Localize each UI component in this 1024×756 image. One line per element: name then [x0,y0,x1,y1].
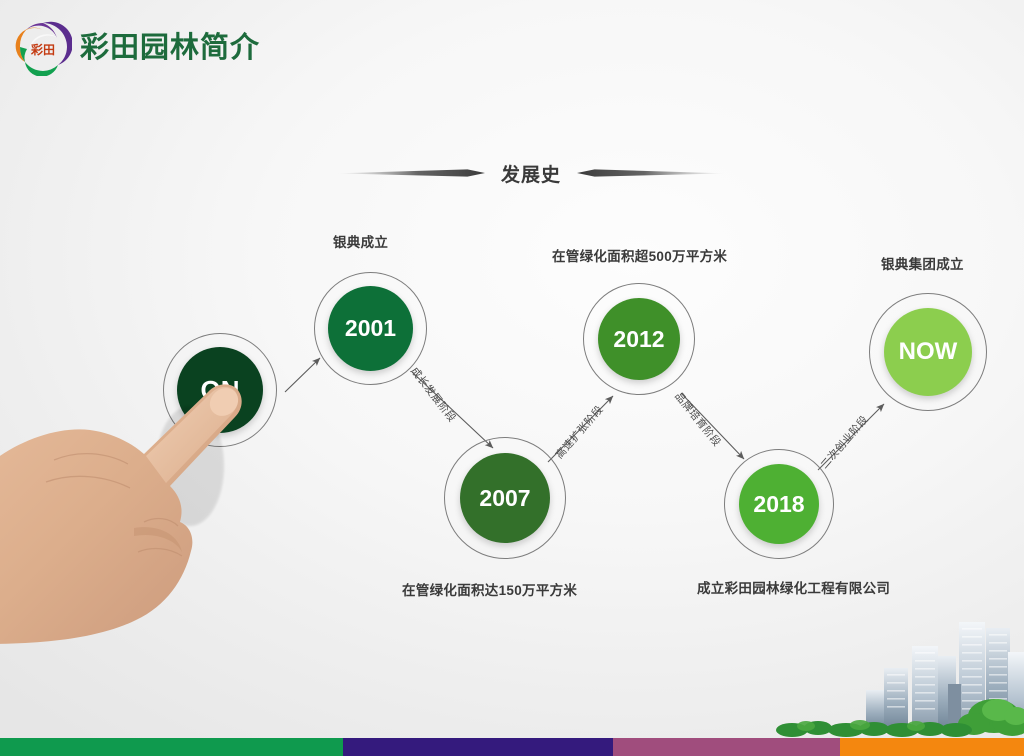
timeline-node-2012[interactable]: 2012 [583,283,695,395]
bar-segment-mauve [613,738,840,756]
bottom-color-bar [0,738,1024,756]
pointing-hand-icon [0,356,262,656]
node-disc-2018[interactable]: 2018 [739,464,819,544]
title-rule-left [336,166,485,180]
section-title-text: 发展史 [485,160,577,187]
cityscape-illustration-icon [762,608,1024,738]
node-caption-2001: 银典成立 [333,231,388,251]
bar-segment-green [0,738,343,756]
slide-header: 彩田 彩田园林简介 [0,0,1024,92]
section-title-group: 发展史 [336,155,726,191]
node-disc-now[interactable]: NOW [884,308,972,396]
logo-glyph-text: 彩田 [30,42,55,57]
page-title: 彩田园林简介 [80,24,260,66]
slide-canvas: 彩田 彩田园林简介 发展史 [0,0,1024,756]
node-caption-2018: 成立彩田园林绿化工程有限公司 [697,577,890,597]
connector-label-expansion: 高速扩张阶段 [552,402,607,462]
timeline-node-2001[interactable]: 2001 [314,272,427,385]
title-rule-right [577,166,726,180]
timeline-node-2018[interactable]: 2018 [724,449,834,559]
bar-segment-orange [840,738,1024,756]
node-disc-2012[interactable]: 2012 [598,298,680,380]
bar-segment-indigo [343,738,613,756]
timeline-node-2007[interactable]: 2007 [444,437,566,559]
node-caption-now: 银典集团成立 [881,253,964,273]
connector-label-brand: 品牌培育阶段 [671,389,724,450]
caitian-logo-icon: 彩田 [14,18,72,76]
node-disc-2001[interactable]: 2001 [328,286,413,371]
connector-label-second-venture: 二次创业阶段 [817,412,872,472]
timeline-node-now[interactable]: NOW [869,293,987,411]
connector-label-growth: 成长发展阶段 [407,364,459,425]
node-caption-2007: 在管绿化面积达150万平方米 [402,579,577,599]
node-caption-2012: 在管绿化面积超500万平方米 [552,245,727,265]
node-disc-2007[interactable]: 2007 [460,453,550,543]
